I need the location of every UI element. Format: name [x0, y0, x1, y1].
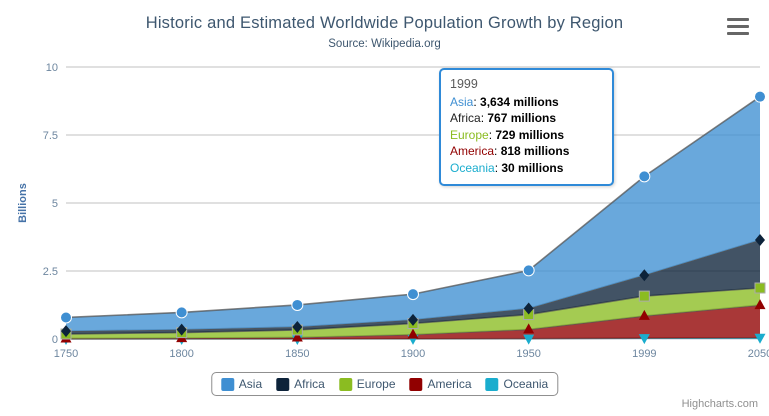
data-point-marker[interactable]: [408, 289, 419, 300]
tooltip-row: Oceania: 30 millions: [450, 160, 603, 177]
tooltip-series-name: America: [450, 144, 494, 158]
chart-tooltip: 1999 Asia: 3,634 millionsAfrica: 767 mil…: [439, 68, 614, 186]
legend-item-africa[interactable]: Africa: [276, 377, 325, 391]
data-point-marker[interactable]: [755, 283, 765, 293]
legend-swatch-icon: [276, 378, 289, 391]
x-axis-tick-label: 2050: [748, 348, 769, 360]
legend-item-oceania[interactable]: Oceania: [486, 377, 549, 391]
tooltip-header: 1999: [450, 76, 603, 93]
data-point-marker[interactable]: [755, 91, 766, 102]
tooltip-row: Europe: 729 millions: [450, 127, 603, 144]
tooltip-series-value: 30 millions: [501, 161, 563, 175]
legend-label: Europe: [357, 377, 396, 391]
data-point-marker[interactable]: [61, 312, 72, 323]
legend-swatch-icon: [486, 378, 499, 391]
legend-label: Africa: [294, 377, 325, 391]
data-point-marker[interactable]: [639, 171, 650, 182]
legend-label: America: [428, 377, 472, 391]
tooltip-row: Africa: 767 millions: [450, 110, 603, 127]
x-axis-tick-label: 1750: [54, 348, 78, 360]
x-axis-tick-label: 1850: [285, 348, 309, 360]
tooltip-series-value: 3,634 millions: [480, 95, 559, 109]
legend-item-asia[interactable]: Asia: [221, 377, 262, 391]
tooltip-series-name: Africa: [450, 111, 481, 125]
data-point-marker[interactable]: [292, 299, 303, 310]
credits-label: Highcharts.com: [682, 398, 758, 410]
tooltip-series-name: Europe: [450, 128, 489, 142]
y-axis-tick-label: 10: [46, 62, 58, 74]
tooltip-series-value: 767 millions: [487, 111, 556, 125]
x-axis-tick-label: 1950: [516, 348, 540, 360]
tooltip-series-name: Oceania: [450, 161, 495, 175]
tooltip-series-value: 729 millions: [495, 128, 564, 142]
tooltip-rows: Asia: 3,634 millionsAfrica: 767 millions…: [450, 94, 603, 177]
y-axis-tick-label: 0: [52, 334, 58, 346]
y-axis-tick-label: 5: [52, 198, 58, 210]
legend-swatch-icon: [221, 378, 234, 391]
x-axis-tick-label: 1800: [169, 348, 193, 360]
data-point-marker[interactable]: [523, 265, 534, 276]
legend-label: Asia: [239, 377, 262, 391]
y-axis-tick-label: 2.5: [43, 266, 58, 278]
x-axis-tick-label: 1900: [401, 348, 425, 360]
y-axis-title: Billions: [17, 183, 29, 223]
x-axis-tick-label: 1999: [632, 348, 656, 360]
tooltip-series-value: 818 millions: [501, 144, 570, 158]
data-point-marker[interactable]: [176, 307, 187, 318]
tooltip-series-name: Asia: [450, 95, 473, 109]
legend-swatch-icon: [339, 378, 352, 391]
highcharts-container: Historic and Estimated Worldwide Populat…: [0, 0, 769, 416]
legend-item-europe[interactable]: Europe: [339, 377, 396, 391]
legend-swatch-icon: [410, 378, 423, 391]
legend-item-america[interactable]: America: [410, 377, 472, 391]
tooltip-row: Asia: 3,634 millions: [450, 94, 603, 111]
plot-area: 02.557.510Billions1750180018501900195019…: [0, 0, 769, 416]
chart-legend: AsiaAfricaEuropeAmericaOceania: [211, 372, 558, 396]
tooltip-row: America: 818 millions: [450, 143, 603, 160]
legend-label: Oceania: [504, 377, 549, 391]
data-point-marker[interactable]: [639, 291, 649, 301]
data-point-marker[interactable]: [523, 335, 534, 345]
y-axis-tick-label: 7.5: [43, 130, 58, 142]
